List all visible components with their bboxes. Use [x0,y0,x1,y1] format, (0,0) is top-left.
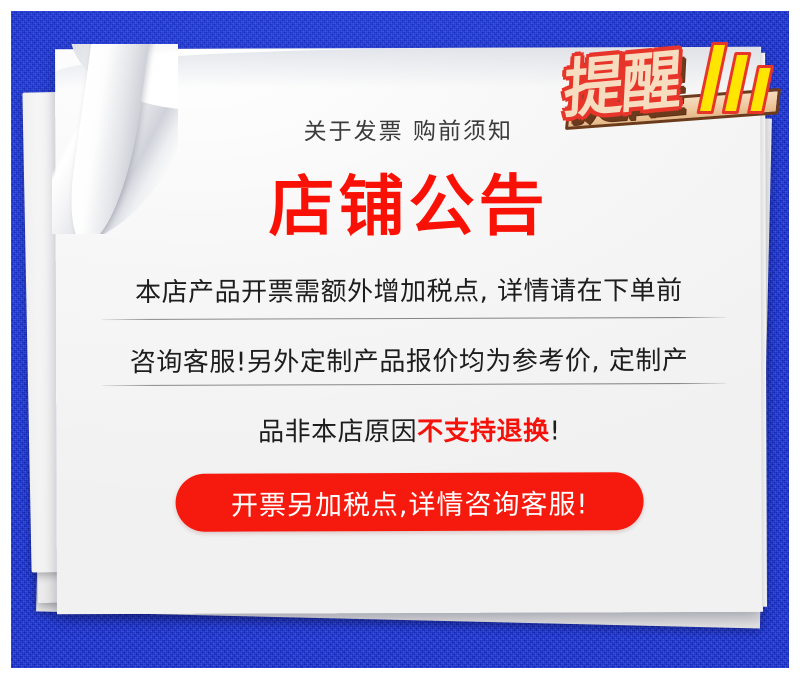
body-line-3-suffix: ! [550,416,561,446]
divider-1 [102,317,726,320]
body-line-3-highlight: 不支持退换 [417,417,550,447]
kicker-text: 关于发票 购前须知 [55,111,761,147]
body-line-3-prefix: 品非本店原因 [258,417,417,448]
contact-service-button[interactable]: 开票另加税点,详情咨询客服! [175,472,643,532]
body-line-3: 品非本店原因不支持退换! [56,410,762,449]
poster-canvas: 提醒 关于发票 购前须知 店铺公告 本店产品开票需额外增加税点, 详情请在下单前… [0,0,800,679]
body-line-2: 咨询客服!另外定制产品报价均为参考价, 定制产 [56,340,762,379]
announcement-content: 关于发票 购前须知 店铺公告 本店产品开票需额外增加税点, 详情请在下单前 咨询… [55,47,763,614]
body-line-1: 本店产品开票需额外增加税点, 详情请在下单前 [56,270,762,309]
page-title: 店铺公告 [55,152,761,250]
divider-2 [102,383,726,386]
